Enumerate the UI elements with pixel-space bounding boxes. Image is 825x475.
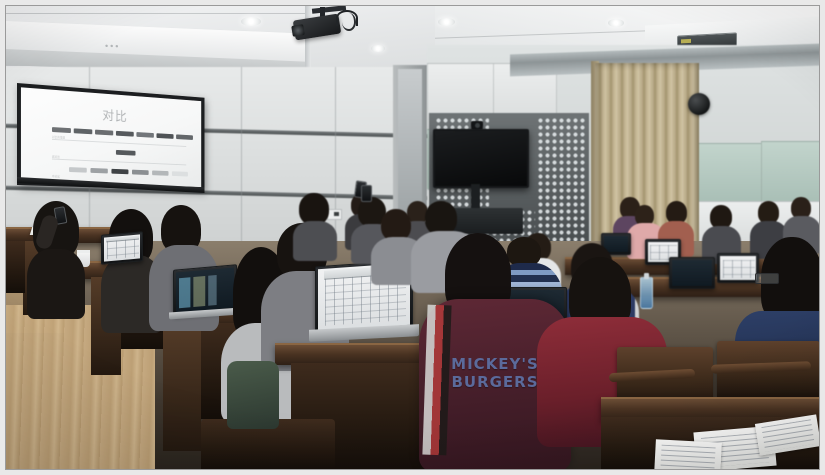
slide-swatch-row-1 xyxy=(52,127,186,140)
slide-title: 对比 xyxy=(21,99,201,129)
slide-swatch-row-2 xyxy=(52,147,186,159)
projector-lens-icon xyxy=(291,24,305,37)
ceiling-light-4 xyxy=(608,19,624,27)
flat-screen-tv xyxy=(433,129,529,188)
desk-left-panel-1 xyxy=(5,241,25,293)
handout-paper-2 xyxy=(654,439,722,470)
ceiling-light-1 xyxy=(241,17,261,26)
ceiling-projector xyxy=(292,7,356,41)
lecture-hall-photo: ••• xyxy=(5,5,820,470)
projection-screen-surface: 对比 对比的强弱 弱对比 xyxy=(21,87,201,187)
ceiling-light-3 xyxy=(438,18,455,26)
water-bottle xyxy=(640,277,653,309)
eyeglasses-icon xyxy=(755,273,779,284)
door-frame xyxy=(393,65,427,215)
slide-swatch-row-3 xyxy=(52,166,186,177)
slide-caption-3: 中对比 xyxy=(52,174,60,178)
wall-speaker-icon xyxy=(688,93,710,115)
smartphone-raised-3 xyxy=(361,185,372,202)
ceiling-light-2 xyxy=(371,45,385,52)
ceiling-faint-text: ••• xyxy=(105,41,120,52)
photo-frame: ••• xyxy=(0,0,825,475)
wall-outlet xyxy=(327,209,342,220)
bag-on-chair xyxy=(227,361,279,429)
desk-left-side-3 xyxy=(163,323,201,451)
projection-screen: 对比 对比的强弱 弱对比 xyxy=(17,83,204,191)
